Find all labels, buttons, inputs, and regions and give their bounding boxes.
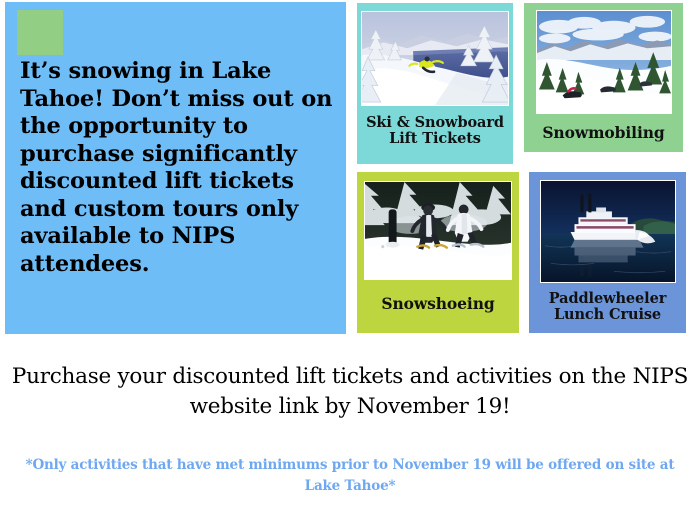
activity-tile-ski-snowboard[interactable]: Ski & Snowboard Lift Tickets (357, 3, 513, 164)
ski-snowboard-photo (361, 11, 509, 106)
footnote-text: *Only activities that have met minimums … (8, 455, 692, 497)
snowmobiling-photo (536, 10, 672, 114)
tile-label-snowmobiling: Snowmobiling (542, 124, 664, 141)
activity-tile-snowmobiling[interactable]: Snowmobiling (524, 3, 683, 152)
snowshoeing-photo (364, 181, 512, 280)
promo-panel: It’s snowing in Lake Tahoe! Don’t miss o… (5, 2, 346, 334)
call-to-action-text: Purchase your discounted lift tickets an… (8, 362, 692, 422)
activity-tile-snowshoeing[interactable]: Snowshoeing (357, 172, 519, 333)
tile-label-snowshoeing: Snowshoeing (381, 295, 494, 312)
tile-label-paddlewheeler: Paddlewheeler Lunch Cruise (549, 291, 666, 323)
promo-headline: It’s snowing in Lake Tahoe! Don’t miss o… (20, 58, 336, 278)
green-accent-square (17, 10, 63, 55)
tile-label-ski-snowboard: Ski & Snowboard Lift Tickets (366, 115, 504, 147)
paddlewheeler-photo (540, 180, 676, 283)
activity-tile-paddlewheeler[interactable]: Paddlewheeler Lunch Cruise (529, 172, 686, 333)
